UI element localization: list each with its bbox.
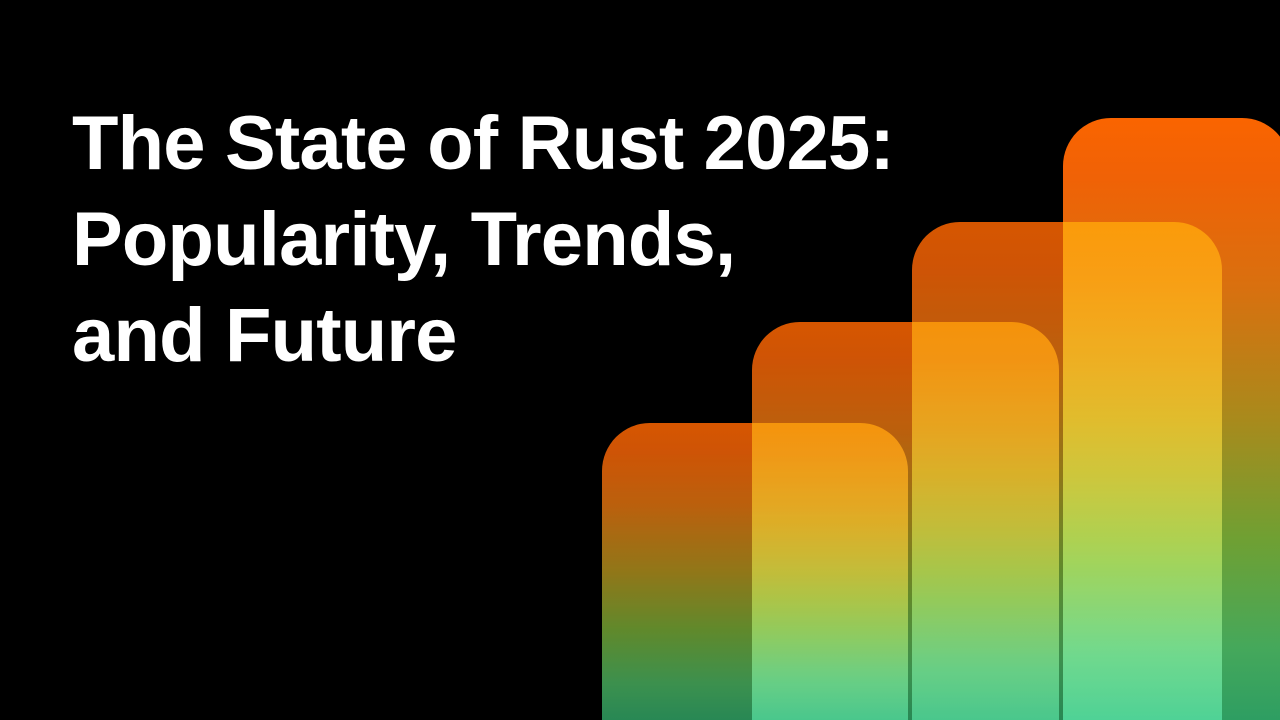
bar-chart-graphic: [0, 0, 1280, 720]
title-card: The State of Rust 2025: Popularity, Tren…: [0, 0, 1280, 720]
bar-1: [602, 423, 908, 720]
